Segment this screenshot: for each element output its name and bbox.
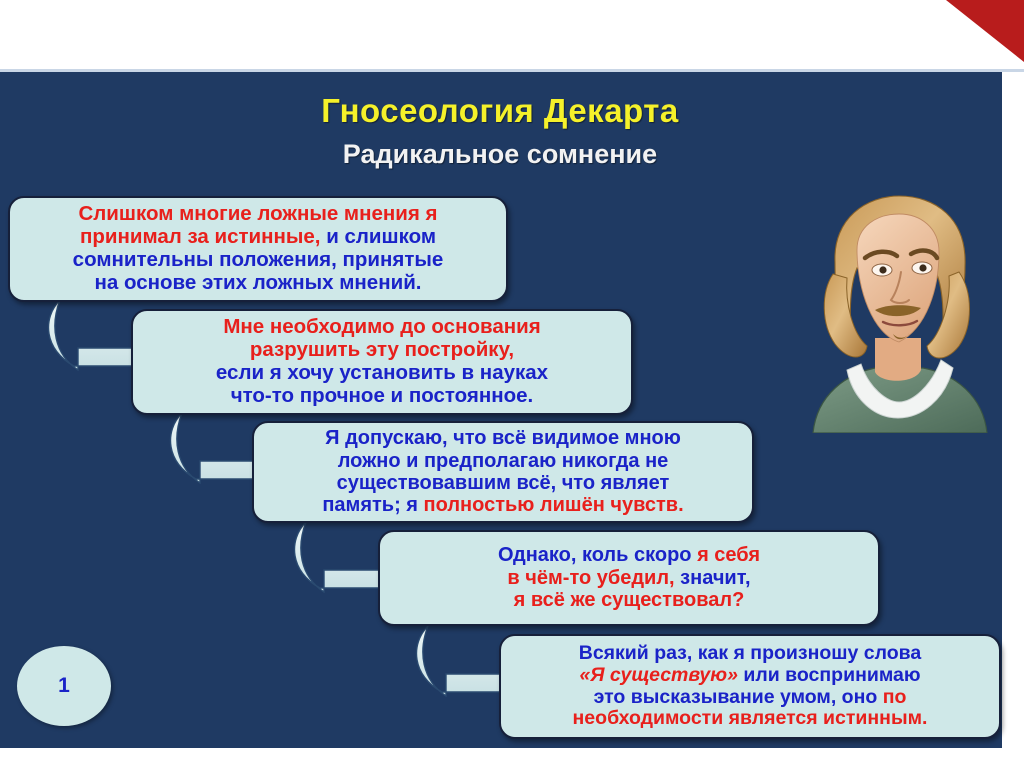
- statement-box-1: Слишком многие ложные мнения япринимал з…: [8, 196, 508, 302]
- header-band: [0, 0, 1024, 71]
- page-subtitle: Радикальное сомнение: [0, 139, 1000, 170]
- page-number-label: 1: [58, 674, 70, 698]
- page-number-badge: 1: [17, 646, 111, 726]
- red-corner-decoration: [946, 0, 1024, 62]
- statement-box-2: Мне необходимо до основанияразрушить эту…: [131, 309, 633, 415]
- descartes-portrait-image: [795, 188, 1000, 433]
- footer-band: [0, 748, 1024, 767]
- statement-box-5: Всякий раз, как я произношу слова«Я суще…: [499, 634, 1001, 739]
- page-title: Гносеология Декарта: [0, 92, 1000, 130]
- statement-box-4: Однако, коль скоро я себяв чём-то убедил…: [378, 530, 880, 626]
- statement-box-3: Я допускаю, что всё видимое мноюложно и …: [252, 421, 754, 523]
- slide-root: Гносеология Декарта Радикальное сомнение…: [0, 0, 1024, 767]
